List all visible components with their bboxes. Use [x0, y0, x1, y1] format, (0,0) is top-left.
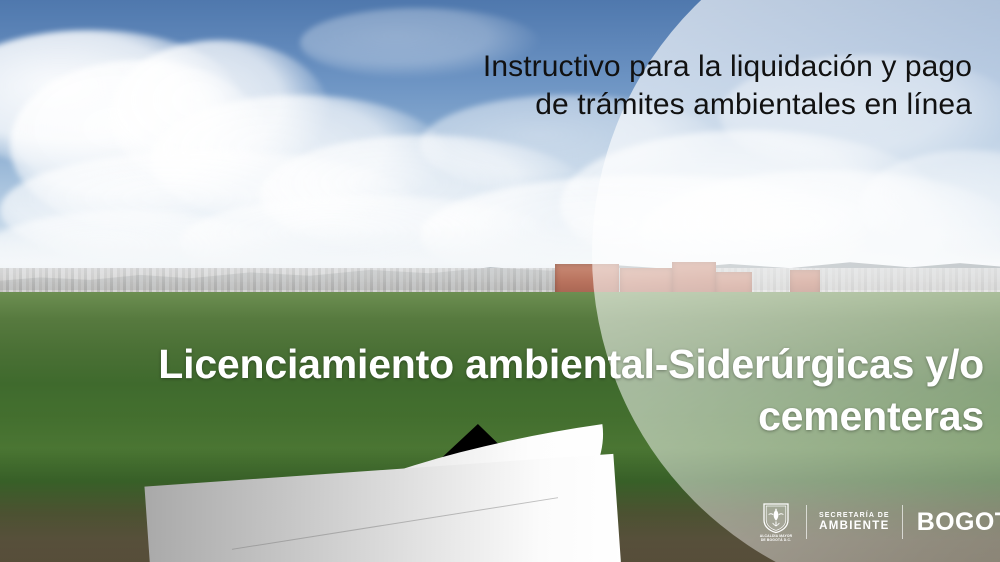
secretaria-label-top: SECRETARÍA DE — [819, 511, 890, 520]
bogota-brand-logo: ★ ★ ★ BOGOT — [909, 499, 1000, 545]
title-line-1: Licenciamiento ambiental-Siderúrgicas y/… — [84, 338, 984, 390]
bogota-wordmark: BOGOT — [917, 510, 1000, 535]
bogota-coat-of-arms-icon — [761, 502, 791, 533]
slide-title: Licenciamiento ambiental-Siderúrgicas y/… — [84, 338, 984, 443]
secretaria-label-bottom: AMBIENTE — [819, 520, 890, 534]
alcaldia-caption: ALCALDÍA MAYOR DE BOGOTÁ D.C. — [760, 534, 793, 543]
subtitle-line-1: Instructivo para la liquidación y pago — [252, 48, 972, 86]
alcaldia-mayor-logo: ALCALDÍA MAYOR DE BOGOTÁ D.C. — [748, 499, 800, 545]
logo-divider — [806, 505, 807, 539]
secretaria-ambiente-logo: SECRETARÍA DE AMBIENTE — [813, 511, 896, 534]
title-line-2: cementeras — [84, 390, 984, 442]
bogota-wordmark-text: BOGOT — [917, 510, 1000, 535]
presentation-slide: Instructivo para la liquidación y pago d… — [0, 0, 1000, 562]
subtitle-line-2: de trámites ambientales en línea — [252, 86, 972, 124]
alcaldia-caption-line-2: DE BOGOTÁ D.C. — [760, 538, 793, 542]
logo-divider — [902, 505, 903, 539]
slide-subtitle: Instructivo para la liquidación y pago d… — [252, 48, 972, 125]
logo-bar: ALCALDÍA MAYOR DE BOGOTÁ D.C. SECRETARÍA… — [748, 498, 992, 546]
